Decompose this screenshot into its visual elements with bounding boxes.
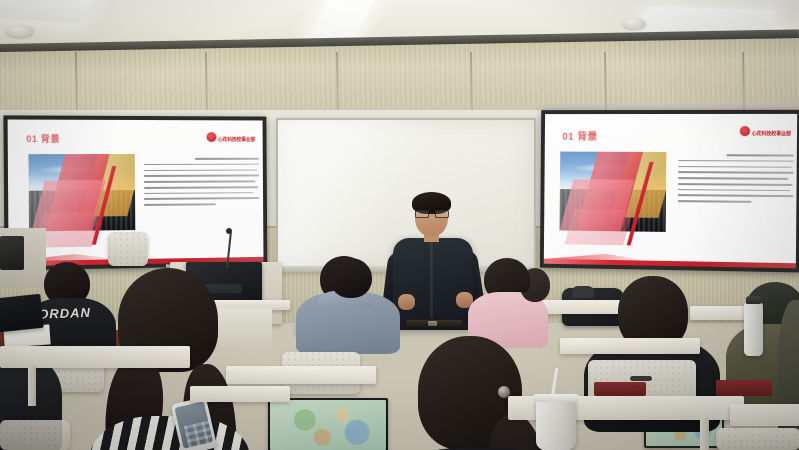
phone-screen [174, 401, 213, 449]
backpack-flap [572, 286, 594, 298]
desk-front-left [0, 346, 190, 368]
slide-title-left: 01 背景 [26, 132, 60, 145]
shirt-placket [430, 240, 433, 318]
projection-screen-right[interactable]: 01 背景 心花科技校事业部 [540, 110, 799, 273]
eyeglasses-icon [415, 210, 448, 216]
chair[interactable] [0, 420, 70, 450]
presenter-torso [393, 238, 473, 330]
upper-wall-paneling [0, 38, 799, 114]
student-head [520, 268, 550, 302]
laptop-center[interactable] [268, 398, 388, 450]
smoke-detector-icon [6, 25, 34, 37]
blossom-logo-icon [739, 126, 749, 136]
cup-lid [533, 394, 579, 402]
slide-body-text-right [678, 154, 794, 207]
chair[interactable] [108, 232, 148, 266]
logo-name-left: 心花科技校事业部 [218, 137, 255, 143]
presenter-left-hand [398, 294, 415, 310]
logo-name-right: 心花科技校事业部 [752, 131, 791, 137]
student-head [330, 258, 372, 298]
water-bottle [744, 302, 763, 356]
phone-keypad-icon [184, 420, 214, 447]
slide-logo-left: 心花科技校事业部 [206, 128, 255, 146]
blossom-logo-icon [206, 132, 216, 142]
laptop-left[interactable] [0, 294, 44, 332]
desk-leg [28, 366, 36, 406]
desk-front-center [190, 386, 290, 402]
chair[interactable] [716, 428, 799, 450]
desk-mid-center [226, 366, 376, 384]
paper-cup [536, 398, 576, 450]
slide-body-text-left [144, 158, 260, 210]
smoke-detector-icon [622, 18, 646, 29]
side-equipment [0, 236, 24, 270]
belt-buckle-icon [428, 321, 437, 326]
desk-leg [700, 418, 709, 450]
slide-right: 01 背景 心花科技校事业部 [544, 114, 797, 268]
slide-footer-band-right [544, 259, 796, 269]
overlay-pink-lower [564, 209, 632, 245]
microphone-icon [226, 228, 232, 234]
laptop-screen-content [270, 400, 386, 450]
chair-handle-slot [630, 376, 652, 381]
red-book [594, 382, 646, 396]
desk-mid-right [560, 338, 700, 354]
classroom-photo-scene: 01 背景 心花科技校事业部 [0, 0, 799, 450]
desk-front-far-right [730, 404, 799, 426]
bottle-cap [746, 296, 761, 304]
slide-logo-right: 心花科技校事业部 [739, 122, 791, 140]
red-book-2 [716, 380, 772, 396]
slide-title-right: 01 背景 [562, 128, 598, 143]
